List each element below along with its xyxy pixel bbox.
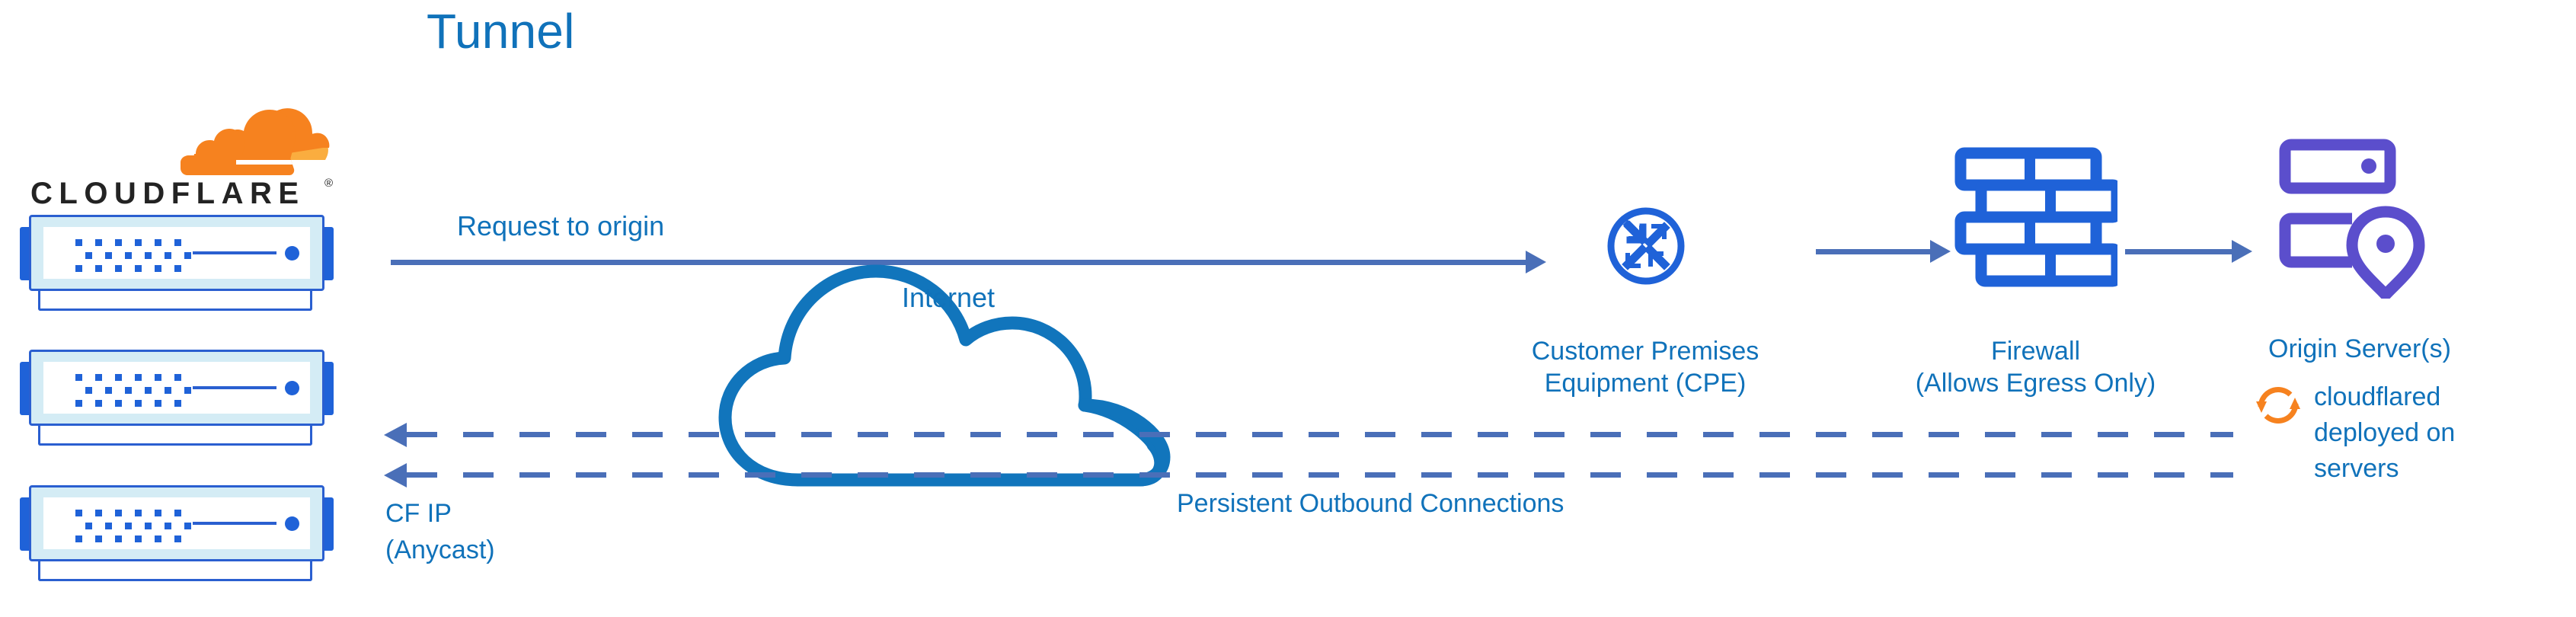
cpe-to-firewall-arrow-line	[1816, 249, 1930, 254]
server-led-icon	[285, 246, 299, 261]
sync-circular-arrows-icon	[2252, 379, 2304, 435]
server-front-panel	[43, 227, 310, 279]
internet-label-wrapper: Internet	[842, 282, 1055, 315]
arrow-right-icon	[1930, 240, 1951, 263]
firewall-to-origin-arrow-line	[2125, 249, 2232, 254]
firewall-label: Firewall (Allows Egress Only)	[1874, 335, 2197, 399]
persistent-connection-dashed-line-2	[407, 472, 2233, 478]
cloud-icon	[708, 229, 1181, 507]
rack-server-icon	[9, 347, 344, 453]
server-body	[29, 350, 324, 426]
arrow-left-icon	[384, 423, 407, 447]
cloudflared-line3: servers	[2314, 451, 2455, 487]
server-front-panel	[43, 497, 310, 549]
cf-ip-anycast-label: CF IP (Anycast)	[385, 495, 495, 568]
cloudflared-line1: cloudflared	[2314, 379, 2455, 415]
rack-server-icon	[9, 212, 344, 318]
server-front-panel	[43, 362, 310, 414]
persistent-connection-dashed-line-1	[407, 432, 2233, 437]
cpe-label-line2: Equipment (CPE)	[1493, 367, 1798, 399]
arrow-right-icon	[1526, 251, 1546, 273]
server-led-icon	[285, 516, 299, 531]
origin-server-label: Origin Server(s)	[2268, 333, 2451, 365]
cf-ip-line1: CF IP	[385, 495, 495, 532]
persistent-outbound-connections-label: Persistent Outbound Connections	[1177, 488, 1564, 519]
server-led-icon	[285, 381, 299, 395]
cloudflared-annotation: cloudflared deployed on servers	[2314, 379, 2455, 487]
rack-server-icon	[9, 482, 344, 589]
server-stack-pin-icon[interactable]	[2279, 139, 2431, 302]
cpe-label-line1: Customer Premises	[1493, 335, 1798, 367]
registered-trademark-icon: ®	[324, 177, 333, 190]
server-body	[29, 485, 324, 561]
request-to-origin-label: Request to origin	[457, 210, 664, 242]
page-title: Tunnel	[427, 3, 575, 59]
four-arrows-circle-icon[interactable]	[1604, 204, 1688, 292]
tunnel-diagram-canvas: Tunnel CLOUDFLARE ®	[0, 0, 2576, 617]
internet-label: Internet	[902, 282, 995, 313]
server-status-line	[193, 522, 276, 525]
firewall-label-line1: Firewall	[1874, 335, 2197, 367]
cloudflared-line2: deployed on	[2314, 415, 2455, 451]
brick-wall-icon[interactable]	[1954, 146, 2117, 306]
cpe-label: Customer Premises Equipment (CPE)	[1493, 335, 1798, 399]
arrow-left-icon	[384, 463, 407, 488]
server-body	[29, 215, 324, 291]
cloudflare-logo: CLOUDFLARE ®	[30, 107, 335, 213]
cloudflare-cloud-icon	[175, 107, 335, 181]
cf-ip-line2: (Anycast)	[385, 532, 495, 568]
firewall-label-line2: (Allows Egress Only)	[1874, 367, 2197, 399]
server-status-line	[193, 251, 276, 254]
arrow-right-icon	[2232, 240, 2252, 263]
server-status-line	[193, 386, 276, 389]
cloudflare-wordmark: CLOUDFLARE	[30, 177, 305, 211]
